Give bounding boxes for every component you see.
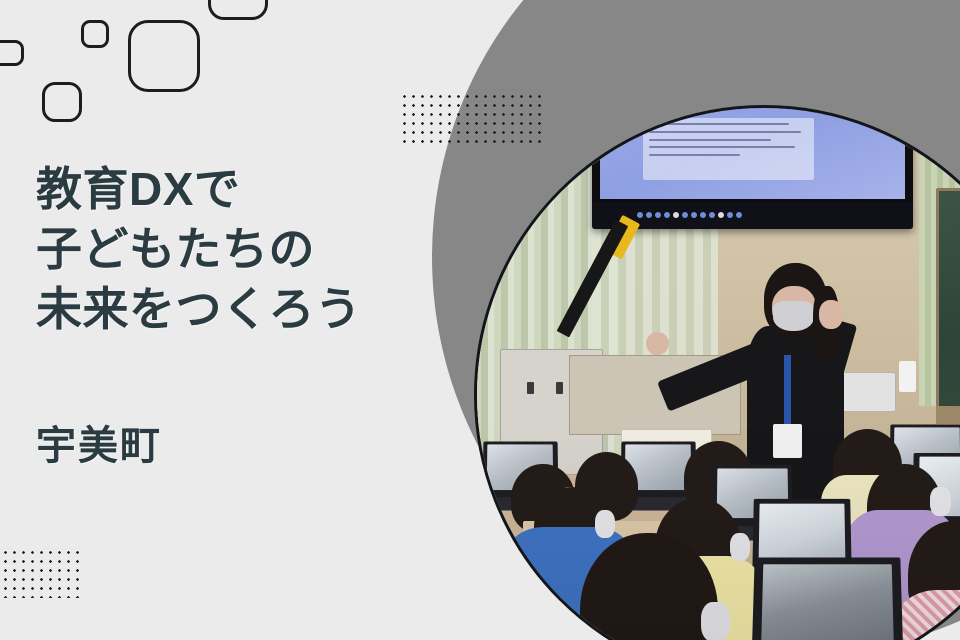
teacher-lanyard xyxy=(784,355,791,430)
display-document xyxy=(643,118,814,181)
face-mask xyxy=(701,602,730,640)
rounded-square-outline-c xyxy=(128,20,200,92)
teacher-right-hand xyxy=(819,300,843,329)
rounded-square-outline-e xyxy=(208,0,268,20)
student-foreground xyxy=(580,533,718,640)
classroom-photo xyxy=(474,105,960,640)
dot-grid-bottom xyxy=(0,548,84,598)
rounded-square-outline-b xyxy=(81,20,109,48)
headline-line-2: 子どもたちの xyxy=(36,220,466,280)
display-taskbar xyxy=(592,202,913,228)
face-mask xyxy=(930,487,951,516)
face-mask xyxy=(730,533,751,562)
teacher-face-mask xyxy=(773,301,814,331)
water-bottle xyxy=(899,361,916,393)
headline-line-1: 教育DXで xyxy=(36,160,466,220)
display-panel xyxy=(600,105,905,199)
rounded-square-outline-a xyxy=(0,40,24,66)
page-title: 教育DXで 子どもたちの 未来をつくろう xyxy=(36,160,466,339)
chalkboard-rail xyxy=(936,406,960,423)
teacher-id-badge xyxy=(773,424,802,458)
interactive-display xyxy=(592,105,913,229)
headline-line-3: 未来をつくろう xyxy=(36,280,466,340)
green-chalkboard xyxy=(936,188,960,418)
classroom-photo-scene xyxy=(477,108,960,640)
municipality-name: 宇美町 xyxy=(36,413,466,471)
text-block: 教育DXで 子どもたちの 未来をつくろう 宇美町 xyxy=(36,160,466,471)
rounded-square-outline-d xyxy=(42,82,82,122)
poster-canvas: 教育DXで 子どもたちの 未来をつくろう 宇美町 xyxy=(0,0,960,640)
laptop-foreground xyxy=(751,557,904,640)
cd-player xyxy=(839,372,896,412)
